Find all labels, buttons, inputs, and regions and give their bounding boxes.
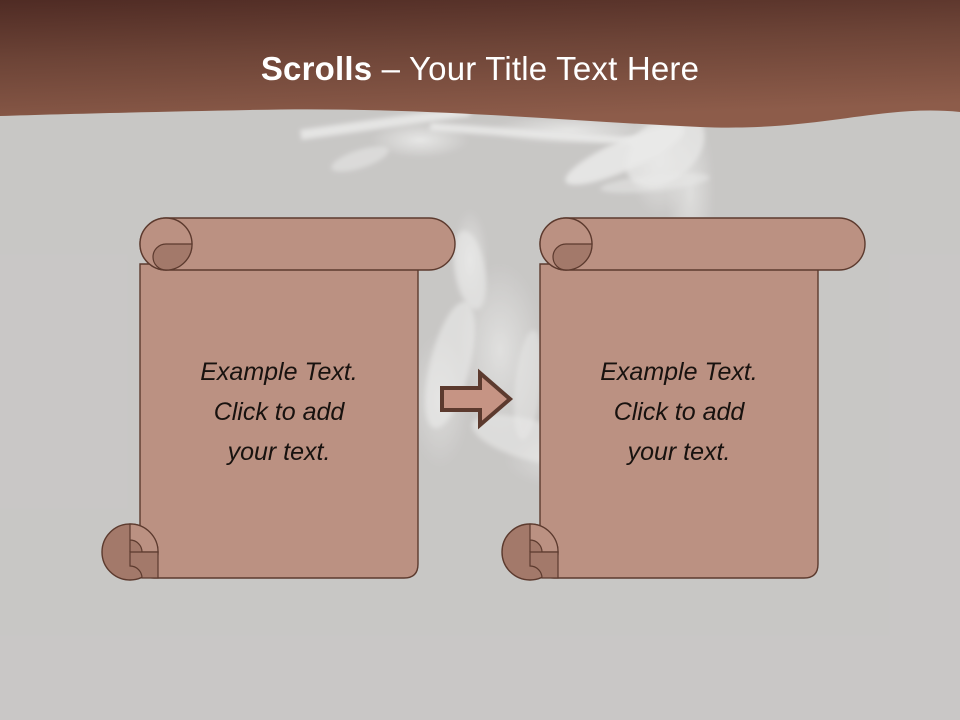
right-arrow-shape	[438, 368, 516, 430]
right-scroll[interactable]: Example Text. Click to add your text.	[490, 212, 880, 597]
page-title-bold: Scrolls	[261, 50, 372, 87]
slide-canvas: Scrolls – Your Title Text Here Example T…	[0, 0, 960, 720]
title-banner: Scrolls – Your Title Text Here	[0, 0, 960, 140]
right-arrow-icon[interactable]	[438, 368, 516, 435]
left-scroll-text[interactable]: Example Text. Click to add your text.	[140, 352, 418, 472]
left-scroll[interactable]: Example Text. Click to add your text.	[90, 212, 470, 597]
right-scroll-text[interactable]: Example Text. Click to add your text.	[540, 352, 818, 472]
page-title-rest: – Your Title Text Here	[372, 50, 699, 87]
page-title: Scrolls – Your Title Text Here	[0, 50, 960, 88]
